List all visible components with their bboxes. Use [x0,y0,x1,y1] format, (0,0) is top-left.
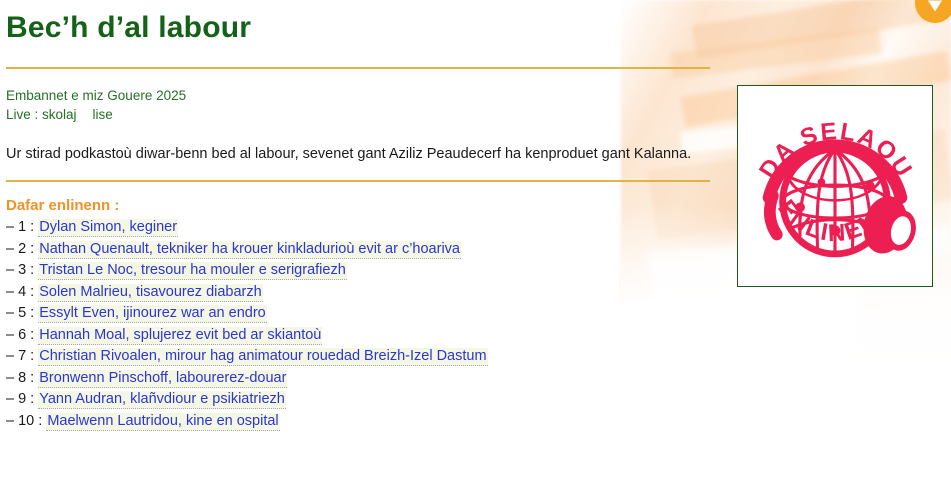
play-triangle-icon [928,1,942,12]
live-line: Live : skolajlise [6,105,712,124]
list-item: – 3 : Tristan Le Noc, tresour ha mouler … [6,260,712,282]
globe-headphones-icon: DA SELAOU ENLINENN [738,86,932,286]
resources-heading: Dafar enlinenn : [6,182,712,216]
resource-link[interactable]: Yann Audran, klañvdiour e psikiatriezh [38,391,286,409]
list-item-bullet: – 8 : [6,370,34,386]
publish-date: Embannet e miz Gouere 2025 [6,86,712,105]
background-streak [692,0,944,59]
play-badge-button[interactable] [915,0,951,23]
live-link-skolaj[interactable]: skolaj [42,107,93,122]
resource-link[interactable]: Hannah Moal, splujerez evit bed ar skian… [38,327,322,345]
article-content: Bec’h d’al labour Embannet e miz Gouere … [0,0,712,432]
resource-link[interactable]: Bronwenn Pinschoff, labourerez-douar [38,370,287,388]
resource-link[interactable]: Nathan Quenault, tekniker ha krouer kink… [38,241,461,259]
list-item-bullet: – 4 : [6,284,34,300]
list-item: – 1 : Dylan Simon, keginer [6,217,712,239]
page-title: Bec’h d’al labour [6,0,712,46]
list-item: – 5 : Essylt Even, ijinourez war an endr… [6,303,712,325]
resource-link[interactable]: Tristan Le Noc, tresour ha mouler e seri… [38,262,347,280]
article-meta: Embannet e miz Gouere 2025 Live : skolaj… [6,69,712,124]
list-item-bullet: – 6 : [6,327,34,343]
list-item-bullet: – 5 : [6,305,34,321]
list-item: – 10 : Maelwenn Lautridou, kine en ospit… [6,411,712,433]
list-item-bullet: – 10 : [6,413,42,429]
list-item-bullet: – 1 : [6,219,34,235]
resource-link[interactable]: Solen Malrieu, tisavourez diabarzh [38,284,262,302]
resource-link[interactable]: Maelwenn Lautridou, kine en ospital [46,413,279,431]
list-item-bullet: – 2 : [6,241,34,257]
intro-paragraph: Ur stirad podkastoù diwar-benn bed al la… [6,124,706,166]
list-item: – 4 : Solen Malrieu, tisavourez diabarzh [6,282,712,304]
logo-card[interactable]: DA SELAOU ENLINENN [737,85,933,287]
list-item: – 6 : Hannah Moal, splujerez evit bed ar… [6,325,712,347]
resource-link[interactable]: Essylt Even, ijinourez war an endro [38,305,266,323]
resource-link[interactable]: Christian Rivoalen, mirour hag animatour… [38,348,487,366]
list-item-bullet: – 3 : [6,262,34,278]
list-item: – 2 : Nathan Quenault, tekniker ha kroue… [6,239,712,261]
list-item-bullet: – 7 : [6,348,34,364]
list-item-bullet: – 9 : [6,391,34,407]
live-label: Live : [6,107,42,122]
resource-list: – 1 : Dylan Simon, keginer – 2 : Nathan … [6,216,712,432]
live-link-lise[interactable]: lise [93,107,129,122]
list-item: – 7 : Christian Rivoalen, mirour hag ani… [6,346,712,368]
list-item: – 9 : Yann Audran, klañvdiour e psikiatr… [6,389,712,411]
list-item: – 8 : Bronwenn Pinschoff, labourerez-dou… [6,368,712,390]
resource-link[interactable]: Dylan Simon, keginer [38,219,178,237]
